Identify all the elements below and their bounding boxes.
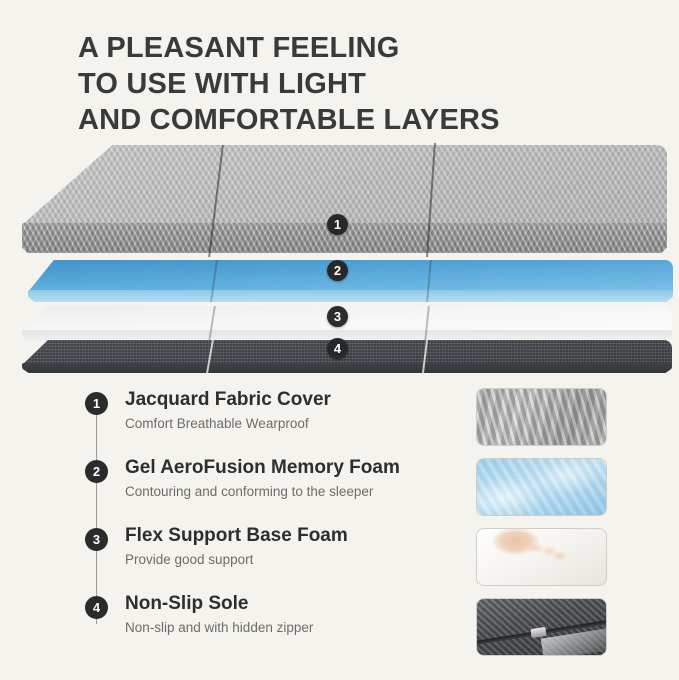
feature-text-1: Jacquard Fabric Cover Comfort Breathable…	[125, 388, 445, 434]
feature-badge-2: 2	[85, 460, 108, 483]
feature-subtitle-1: Comfort Breathable Wearproof	[125, 414, 445, 434]
feature-text-4: Non-Slip Sole Non-slip and with hidden z…	[125, 592, 445, 638]
diagram-badge-3: 3	[327, 306, 348, 327]
feature-badge-4: 4	[85, 596, 108, 619]
layer-gel-memory-foam-top-face	[28, 260, 673, 292]
feature-item-4: 4 Non-Slip Sole Non-slip and with hidden…	[85, 596, 445, 652]
feature-title-1: Jacquard Fabric Cover	[125, 388, 445, 412]
diagram-badge-2: 2	[327, 260, 348, 281]
headline-line-2: TO USE WITH LIGHT	[78, 66, 638, 102]
thumbnail-gel-foam	[476, 458, 607, 516]
feature-title-2: Gel AeroFusion Memory Foam	[125, 456, 445, 480]
thumbnail-non-slip-zipper	[476, 598, 607, 656]
thumbnail-jacquard-fabric	[476, 388, 607, 446]
feature-text-3: Flex Support Base Foam Provide good supp…	[125, 524, 445, 570]
feature-item-3: 3 Flex Support Base Foam Provide good su…	[85, 528, 445, 584]
layer-jacquard-cover-top-face	[22, 145, 667, 225]
feature-item-2: 2 Gel AeroFusion Memory Foam Contouring …	[85, 460, 445, 516]
zipper-pull-icon	[531, 627, 547, 638]
blue-gel-foam-photo	[477, 459, 606, 515]
headline-line-1: A PLEASANT FEELING	[78, 30, 638, 66]
thumbnail-base-foam	[476, 528, 607, 586]
mattress-layers-diagram: 1 2 3 4	[0, 140, 679, 375]
feature-badge-1: 1	[85, 392, 108, 415]
feature-subtitle-3: Provide good support	[125, 550, 445, 570]
page-title: A PLEASANT FEELING TO USE WITH LIGHT AND…	[78, 30, 638, 138]
feature-text-2: Gel AeroFusion Memory Foam Contouring an…	[125, 456, 445, 502]
feature-subtitle-4: Non-slip and with hidden zipper	[125, 618, 445, 638]
feature-item-1: 1 Jacquard Fabric Cover Comfort Breathab…	[85, 392, 445, 448]
hand-pressing-white-foam-photo	[477, 529, 606, 585]
feature-badge-3: 3	[85, 528, 108, 551]
diagram-badge-4: 4	[327, 338, 348, 359]
feature-subtitle-2: Contouring and conforming to the sleeper	[125, 482, 445, 502]
gray-jacquard-fabric-photo	[477, 389, 606, 445]
feature-title-3: Flex Support Base Foam	[125, 524, 445, 548]
diagram-badge-1: 1	[327, 214, 348, 235]
feature-title-4: Non-Slip Sole	[125, 592, 445, 616]
layer-gel-memory-foam-front-face	[28, 290, 673, 302]
dark-fabric-zipper-photo	[477, 599, 606, 655]
layer-non-slip-sole-front-face	[22, 363, 672, 373]
headline-line-3: AND COMFORTABLE LAYERS	[78, 102, 638, 138]
